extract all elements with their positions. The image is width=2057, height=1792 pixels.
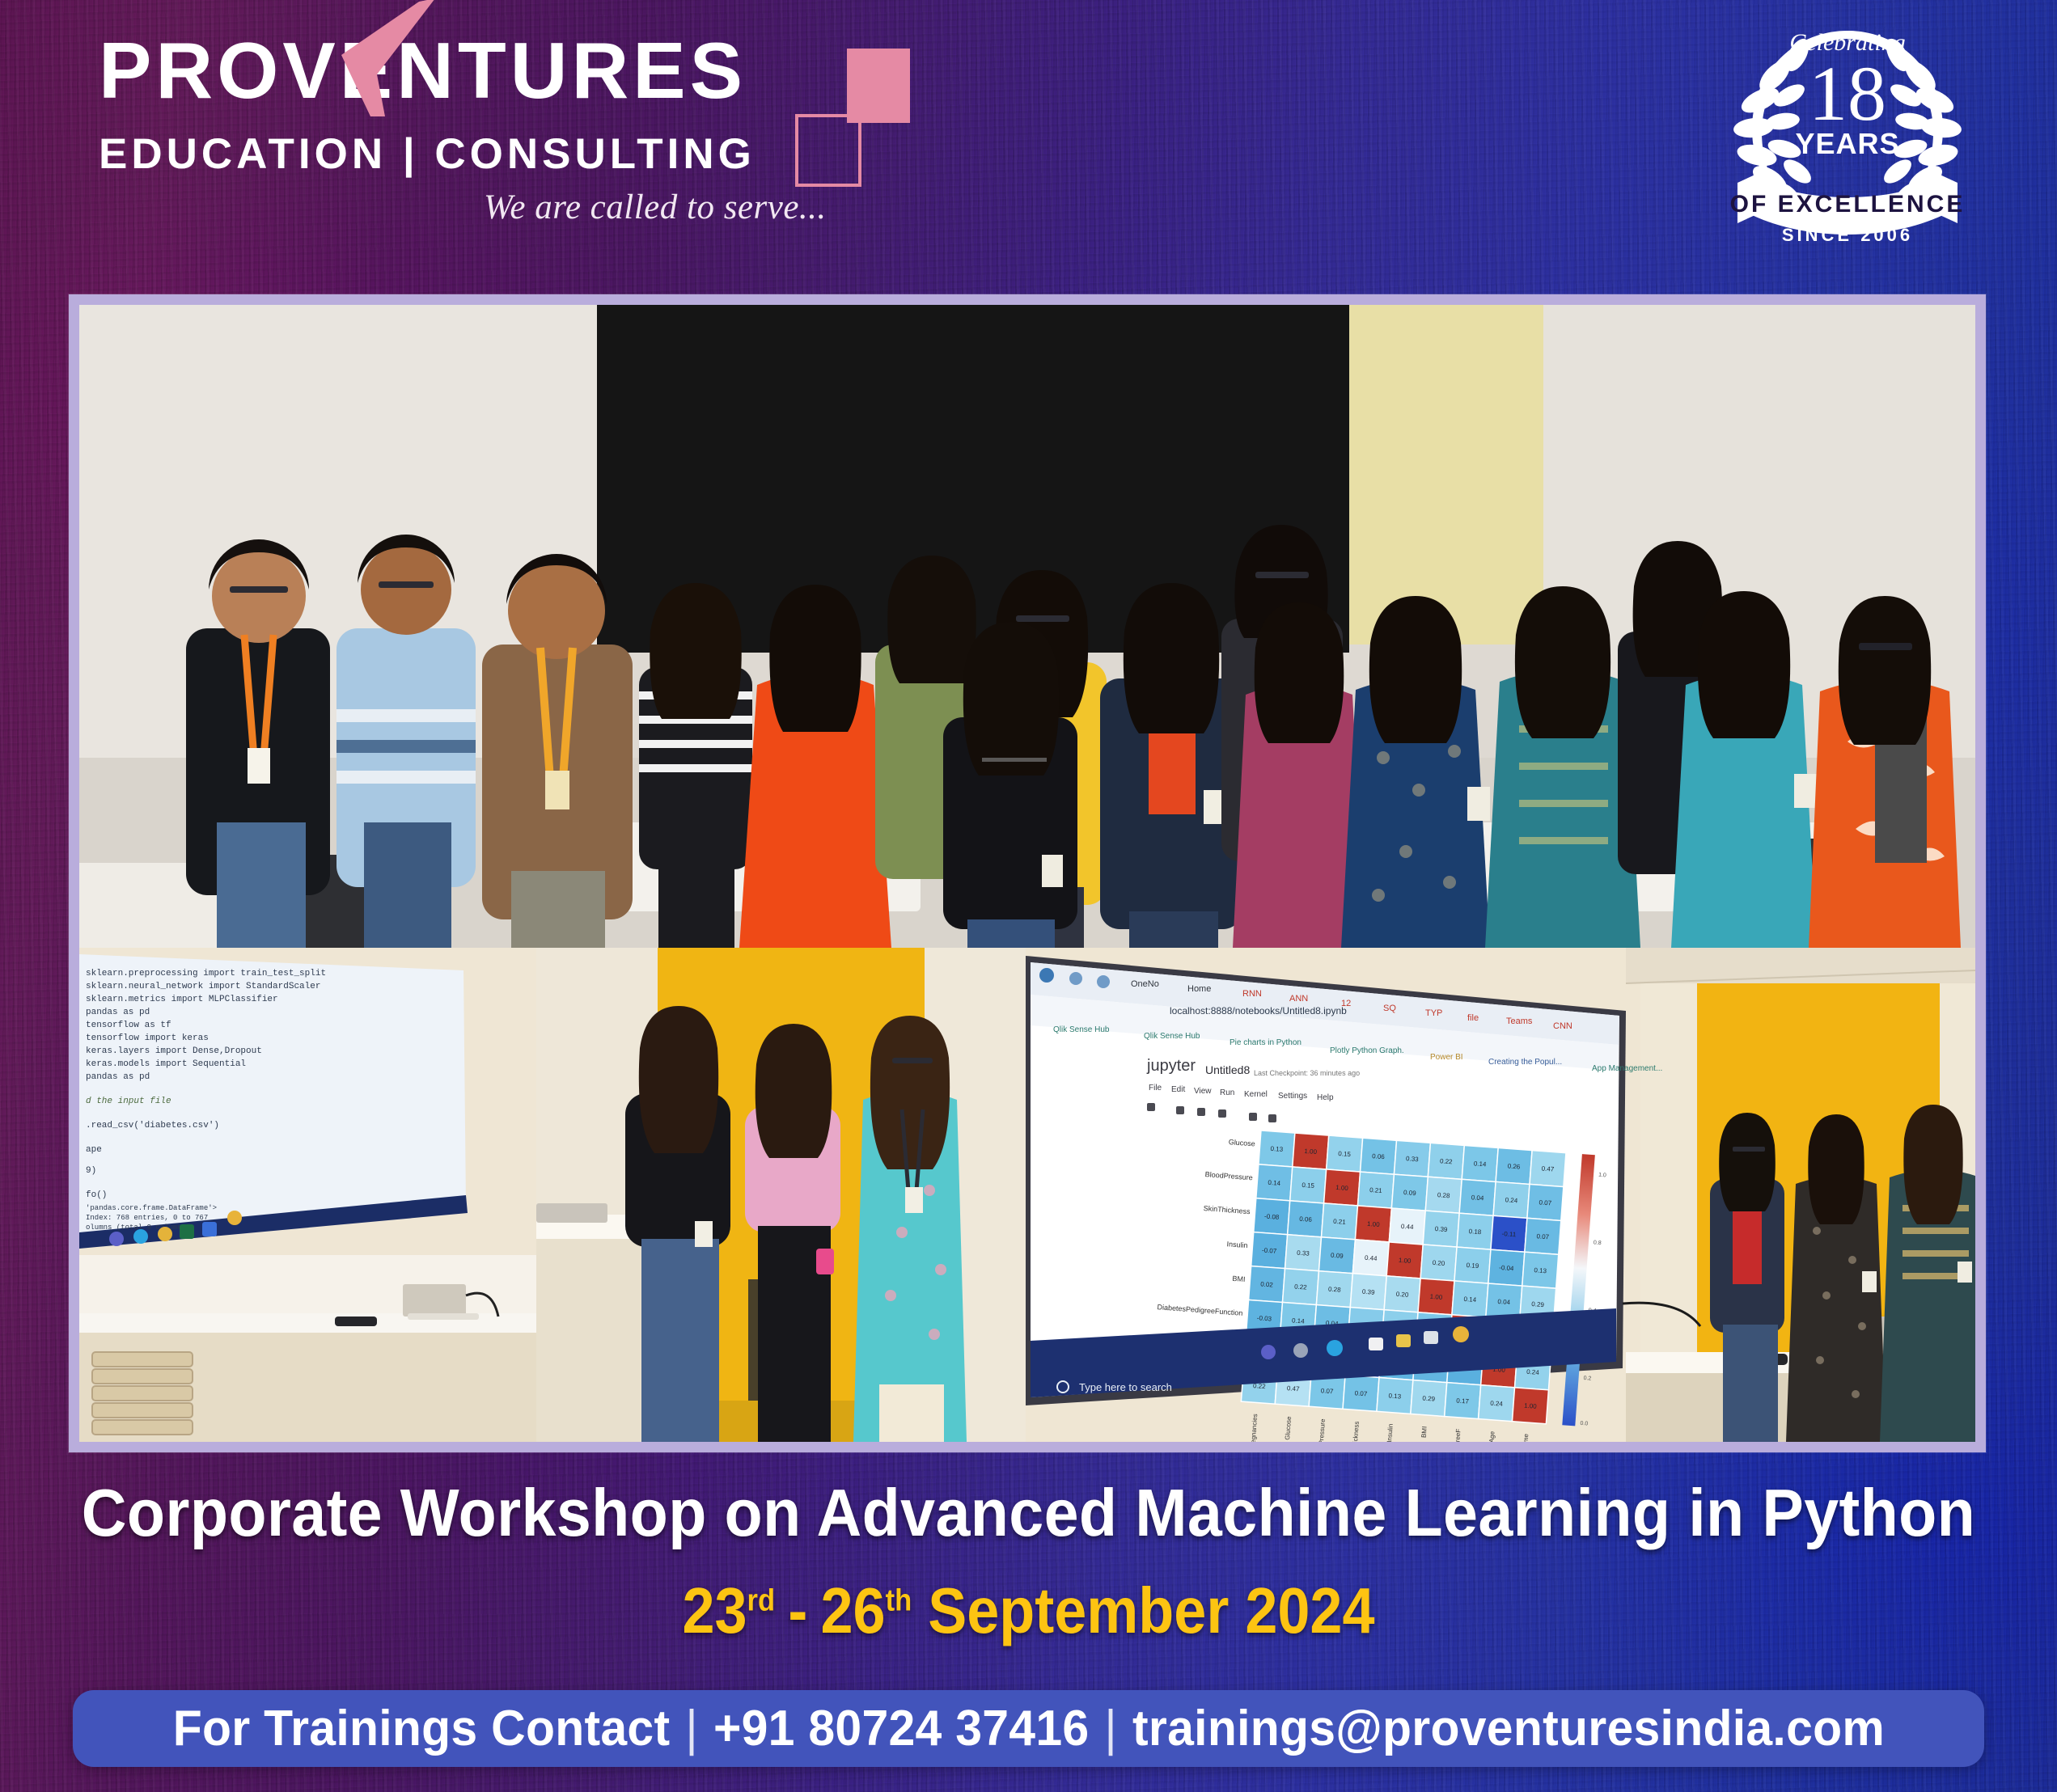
svg-text:0.33: 0.33	[1297, 1249, 1310, 1257]
svg-text:Plotly Python Graph.: Plotly Python Graph.	[1330, 1046, 1404, 1055]
svg-text:0.29: 0.29	[1422, 1394, 1436, 1402]
svg-text:0.13: 0.13	[1270, 1145, 1284, 1153]
svg-text:0.17: 0.17	[1456, 1397, 1470, 1405]
svg-text:Help: Help	[1317, 1093, 1334, 1102]
svg-text:0.28: 0.28	[1437, 1191, 1451, 1199]
svg-text:0.14: 0.14	[1292, 1317, 1306, 1325]
anniversary-badge: Celebrating 18 YEARS OF EXCELLENCE SINCE…	[1726, 11, 1969, 246]
svg-text:0.20: 0.20	[1432, 1259, 1445, 1267]
svg-text:0.06: 0.06	[1372, 1152, 1386, 1160]
svg-text:Power BI: Power BI	[1430, 1053, 1463, 1062]
svg-text:Teams: Teams	[1506, 1016, 1533, 1026]
svg-text:Qlik Sense Hub: Qlik Sense Hub	[1144, 1032, 1200, 1041]
brand-logo: PROVENTURES EDUCATION | CONSULTING	[99, 31, 756, 179]
svg-text:0.21: 0.21	[1333, 1218, 1347, 1226]
brand-name-text: PROVENTURES	[99, 26, 747, 115]
svg-text:0.13: 0.13	[1534, 1266, 1547, 1274]
badge-years-label: YEARS	[1795, 127, 1899, 160]
svg-text:0.24: 0.24	[1490, 1400, 1504, 1408]
projector-python-code-photo: sklearn.preprocessing import train_test_…	[79, 948, 536, 1442]
svg-text:Untitled8: Untitled8	[1205, 1063, 1250, 1076]
svg-text:OneNo: OneNo	[1131, 979, 1159, 989]
svg-text:0.39: 0.39	[1362, 1288, 1376, 1296]
svg-text:0.26: 0.26	[1507, 1162, 1521, 1170]
svg-text:keras.models import Sequential: keras.models import Sequential	[86, 1059, 246, 1069]
svg-text:1.0: 1.0	[1598, 1173, 1606, 1179]
svg-text:0.07: 0.07	[1320, 1387, 1334, 1395]
photo-collage: sklearn.preprocessing import train_test_…	[69, 294, 1986, 1452]
three-participants-photo	[536, 948, 1026, 1442]
svg-text:RNN: RNN	[1242, 989, 1262, 999]
date-start-day: 23	[682, 1574, 747, 1646]
logo-square-outline-icon	[795, 114, 861, 187]
taskbar-search-text: Type here to search	[1079, 1381, 1172, 1393]
svg-text:1.00: 1.00	[1367, 1220, 1381, 1228]
svg-text:-0.03: -0.03	[1257, 1314, 1272, 1322]
svg-text:1.00: 1.00	[1429, 1293, 1443, 1301]
svg-text:0.24: 0.24	[1526, 1368, 1540, 1376]
svg-text:0.07: 0.07	[1354, 1389, 1368, 1397]
logo-square-filled-icon	[847, 49, 910, 123]
badge-years-number: 18	[1809, 50, 1886, 137]
browser-url-text: localhost:8888/notebooks/Untitled8.ipynb	[1170, 1005, 1347, 1016]
svg-text:App Management...: App Management...	[1592, 1064, 1662, 1073]
svg-text:0.13: 0.13	[1388, 1392, 1402, 1400]
svg-text:ape: ape	[86, 1145, 102, 1155]
svg-text:0.02: 0.02	[1260, 1280, 1274, 1288]
svg-text:jupyter: jupyter	[1146, 1057, 1196, 1075]
svg-text:CNN: CNN	[1553, 1021, 1572, 1031]
contact-text: For Trainings Contact|+91 80724 37416|tr…	[172, 1700, 1884, 1757]
svg-text:Outcome: Outcome	[1521, 1433, 1530, 1442]
svg-text:sklearn.metrics import MLPClas: sklearn.metrics import MLPClassifier	[86, 995, 278, 1004]
svg-text:Age: Age	[1488, 1431, 1496, 1442]
svg-text:0.04: 0.04	[1471, 1194, 1484, 1202]
svg-text:Qlik Sense Hub: Qlik Sense Hub	[1053, 1025, 1110, 1034]
svg-text:Kernel: Kernel	[1244, 1090, 1268, 1099]
svg-text:0.33: 0.33	[1406, 1155, 1420, 1163]
svg-text:0.24: 0.24	[1505, 1196, 1518, 1204]
svg-text:Insulin: Insulin	[1226, 1240, 1248, 1249]
svg-text:fo(): fo()	[86, 1190, 107, 1200]
svg-text:tensorflow as tf: tensorflow as tf	[86, 1021, 171, 1030]
svg-text:0.18: 0.18	[1468, 1228, 1482, 1236]
date-end-day: 26	[820, 1574, 885, 1646]
group-photo	[79, 305, 1975, 948]
svg-text:BMI: BMI	[1232, 1274, 1246, 1283]
contact-bar[interactable]: For Trainings Contact|+91 80724 37416|tr…	[73, 1690, 1984, 1767]
svg-text:0.14: 0.14	[1268, 1179, 1281, 1187]
svg-text:0.19: 0.19	[1466, 1262, 1479, 1270]
svg-text:0.09: 0.09	[1403, 1189, 1417, 1197]
svg-text:-0.04: -0.04	[1499, 1264, 1514, 1272]
badge-ribbon-text: OF EXCELLENCE	[1730, 191, 1966, 218]
svg-text:tensorflow import keras: tensorflow import keras	[86, 1033, 209, 1043]
contact-label: For Trainings Contact	[172, 1701, 670, 1756]
svg-text:1.00: 1.00	[1524, 1402, 1538, 1410]
svg-text:File: File	[1149, 1084, 1162, 1093]
svg-text:pandas as pd: pandas as pd	[86, 1008, 150, 1017]
svg-text:0.04: 0.04	[1497, 1298, 1511, 1306]
svg-text:0.39: 0.39	[1435, 1225, 1449, 1233]
svg-text:0.22: 0.22	[1440, 1157, 1454, 1165]
svg-text:0.07: 0.07	[1536, 1232, 1550, 1240]
svg-text:0.06: 0.06	[1299, 1215, 1313, 1224]
svg-text:View: View	[1194, 1087, 1212, 1096]
badge-since-text: SINCE 2006	[1782, 225, 1913, 245]
svg-text:BMI: BMI	[1420, 1426, 1428, 1438]
svg-text:0.47: 0.47	[1287, 1384, 1301, 1393]
svg-text:0.0: 0.0	[1580, 1421, 1588, 1427]
svg-text:0.15: 0.15	[1338, 1150, 1352, 1158]
contact-email[interactable]: trainings@proventuresindia.com	[1132, 1701, 1885, 1756]
svg-text:Run: Run	[1220, 1088, 1234, 1097]
svg-text:0.15: 0.15	[1301, 1181, 1315, 1190]
svg-text:-0.07: -0.07	[1262, 1246, 1277, 1254]
svg-text:Insulin: Insulin	[1386, 1423, 1395, 1442]
svg-text:0.47: 0.47	[1541, 1164, 1555, 1173]
svg-text:0.20: 0.20	[1395, 1291, 1409, 1299]
page-title: Corporate Workshop on Advanced Machine L…	[72, 1474, 1985, 1552]
svg-text:0.2: 0.2	[1583, 1376, 1591, 1382]
svg-text:ANN: ANN	[1289, 994, 1308, 1004]
svg-text:TYP: TYP	[1425, 1008, 1442, 1018]
event-dateline: 23rd-26th September 2024	[103, 1574, 1954, 1648]
svg-text:Index: 768 entries, 0 to 767: Index: 768 entries, 0 to 767	[86, 1214, 208, 1222]
svg-text:keras.layers import Dense,Drop: keras.layers import Dense,Dropout	[86, 1046, 262, 1056]
contact-phone[interactable]: +91 80724 37416	[713, 1701, 1089, 1756]
svg-text:-0.11: -0.11	[1501, 1230, 1517, 1238]
svg-text:1.00: 1.00	[1399, 1257, 1412, 1265]
poster-canvas: PROVENTURES EDUCATION | CONSULTING We ar…	[0, 0, 2057, 1792]
svg-text:9): 9)	[86, 1166, 96, 1176]
svg-text:Pie charts in Python: Pie charts in Python	[1230, 1038, 1301, 1047]
svg-text:0.8: 0.8	[1594, 1240, 1602, 1246]
svg-text:0.28: 0.28	[1328, 1286, 1342, 1294]
svg-text:file: file	[1467, 1013, 1479, 1023]
svg-text:0.09: 0.09	[1331, 1252, 1344, 1260]
jupyter-heatmap-photo: OneNo Home RNN ANN 12 SQ TYP file Teams …	[1026, 948, 1975, 1442]
svg-text:Home: Home	[1187, 984, 1211, 994]
brand-tagline: We are called to serve...	[484, 188, 827, 227]
svg-text:1.00: 1.00	[1304, 1147, 1318, 1156]
laurel-wreath-icon: Celebrating 18 YEARS OF EXCELLENCE SINCE…	[1726, 11, 1969, 246]
svg-text:0.29: 0.29	[1531, 1300, 1545, 1308]
svg-text:0.44: 0.44	[1365, 1254, 1378, 1262]
brand-subtitle: EDUCATION | CONSULTING	[99, 129, 756, 179]
contact-separator-2: |	[1089, 1700, 1132, 1757]
svg-text:0.07: 0.07	[1539, 1198, 1552, 1207]
date-month-year: September 2024	[928, 1574, 1374, 1646]
contact-separator-1: |	[670, 1700, 713, 1757]
svg-text:0.44: 0.44	[1401, 1223, 1415, 1231]
svg-text:'pandas.core.frame.DataFrame'>: 'pandas.core.frame.DataFrame'>	[86, 1204, 217, 1212]
svg-text:0.14: 0.14	[1463, 1295, 1477, 1304]
svg-text:SQ: SQ	[1383, 1004, 1396, 1013]
brand-wordmark: PROVENTURES	[99, 31, 756, 110]
date-end-ordinal: th	[886, 1583, 912, 1617]
svg-text:1.00: 1.00	[1335, 1184, 1349, 1192]
svg-text:.read_csv('diabetes.csv'): .read_csv('diabetes.csv')	[86, 1121, 219, 1131]
svg-text:0.14: 0.14	[1474, 1160, 1488, 1168]
svg-text:Settings: Settings	[1278, 1092, 1307, 1101]
svg-text:0.22: 0.22	[1294, 1283, 1308, 1291]
svg-text:sklearn.preprocessing import t: sklearn.preprocessing import train_test_…	[86, 969, 326, 978]
svg-text:Creating the Popul...: Creating the Popul...	[1488, 1058, 1562, 1067]
svg-text:pandas as pd: pandas as pd	[86, 1072, 150, 1082]
date-range-separator: -	[775, 1574, 820, 1648]
svg-text:d the input file: d the input file	[86, 1097, 171, 1106]
svg-text:0.21: 0.21	[1369, 1186, 1383, 1194]
svg-text:-0.08: -0.08	[1264, 1213, 1280, 1221]
svg-text:Edit: Edit	[1171, 1085, 1185, 1094]
svg-text:sklearn.neural_network import: sklearn.neural_network import StandardSc…	[86, 982, 320, 991]
date-start-ordinal: rd	[747, 1583, 776, 1617]
svg-text:Last Checkpoint: 36 minutes ag: Last Checkpoint: 36 minutes ago	[1254, 1069, 1360, 1077]
